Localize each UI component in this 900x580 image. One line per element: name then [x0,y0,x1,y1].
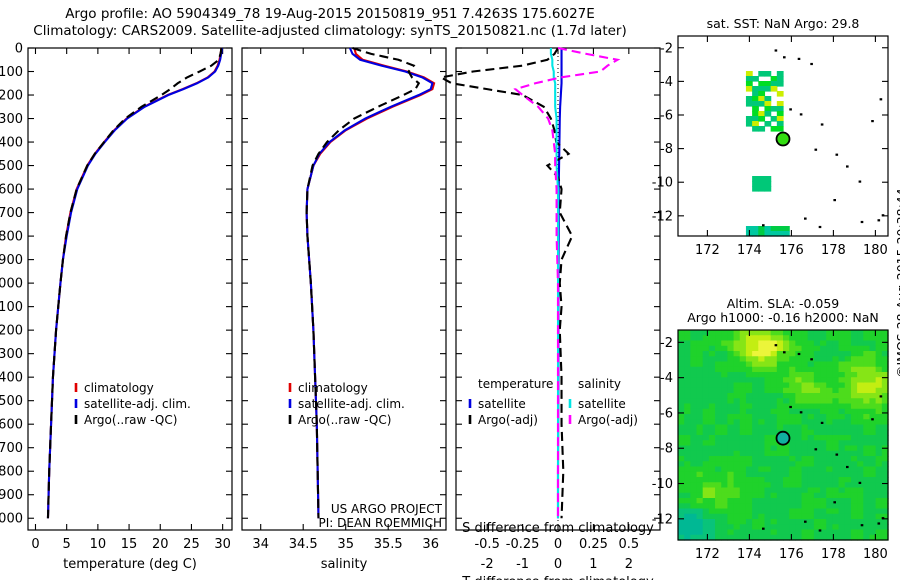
map-cell [820,330,827,336]
map-cell [851,393,858,399]
map-cell [771,377,778,383]
map-cell [727,425,734,431]
depth-tick-label: 400 [0,136,23,151]
map-cell [857,330,864,336]
map-cell [740,383,747,389]
map-cell [808,477,815,483]
x-tick-label: 25 [183,537,200,552]
map-cell [876,404,883,410]
map-cell [758,393,765,399]
map-cell [851,335,858,341]
map-cell [746,425,753,431]
map-cell [783,398,790,404]
map-cell [727,524,734,530]
map-cell [777,111,784,117]
map-cell [851,519,858,525]
map-cell [795,503,802,509]
coastline-mark [836,154,839,156]
map-cell [764,86,771,92]
map-cell [752,498,759,504]
argo-position-marker[interactable] [777,432,790,445]
map-cell [746,81,753,87]
coastline-mark [800,113,803,115]
map-cell [777,498,784,504]
s-diff-axis-label: S difference from climatology [462,521,654,536]
map-cell [746,96,753,102]
plot-title: Argo profile: AO 5904349_78 19-Aug-2015 … [0,6,660,40]
map-cell [684,435,691,441]
map-cell [740,335,747,341]
map-cell [814,498,821,504]
map-cell [715,461,722,467]
map-cell [697,493,704,499]
map-cell [845,451,852,457]
map-y-tick-label: -6 [660,406,673,421]
map-cell [876,530,883,536]
map-cell [684,362,691,368]
map-cell [851,377,858,383]
map-cell [734,461,741,467]
map-cell [752,372,759,378]
map-cell [697,346,704,352]
map-cell [783,383,790,389]
map-cell [851,430,858,436]
map-cell [876,388,883,394]
map-x-tick-label: 176 [779,243,804,258]
map-cell [857,446,864,452]
map-cell [808,435,815,441]
map-cell [845,488,852,494]
map-cell [764,330,771,336]
map-cell [795,377,802,383]
map-cell [851,498,858,504]
map-cell [703,446,710,452]
map-cell [869,435,876,441]
map-cell [783,388,790,394]
map-cell [845,519,852,525]
map-cell [814,425,821,431]
map-cell [764,341,771,347]
map-cell [783,467,790,473]
map-cell [752,176,759,182]
map-cell [851,503,858,509]
map-cell [690,446,697,452]
map-cell [826,519,833,525]
map-cell [832,398,839,404]
map-cell [808,524,815,530]
map-cell [876,435,883,441]
map-cell [709,398,716,404]
map-cell [764,176,771,182]
map-cell [746,451,753,457]
map-cell [703,393,710,399]
map-cell [709,393,716,399]
map-cell [857,493,864,499]
map-cell [734,440,741,446]
map-cell [715,430,722,436]
map-cell [697,409,704,415]
map-cell [851,388,858,394]
map-cell [764,346,771,352]
map-cell [863,493,870,499]
coastline-mark [861,524,864,526]
map-cell [752,524,759,530]
map-cell [734,451,741,457]
map-cell [771,76,778,82]
map-cell [832,524,839,530]
map-cell [863,467,870,473]
map-cell [721,456,728,462]
map-cell [758,372,765,378]
map-cell [832,425,839,431]
coastline-mark [762,528,765,530]
map-cell [721,514,728,520]
map-cell [715,335,722,341]
map-cell [752,430,759,436]
map-cell [839,409,846,415]
map-cell [845,346,852,352]
map-cell [795,524,802,530]
map-cell [814,472,821,478]
map-cell [876,351,883,357]
map-cell [802,398,809,404]
map-cell [863,341,870,347]
map-cell [697,530,704,536]
map-cell [734,514,741,520]
map-cell [783,524,790,530]
map-cell [703,356,710,362]
map-cell [826,367,833,373]
map-cell [764,488,771,494]
map-cell [684,451,691,457]
map-cell [703,362,710,368]
map-cell [771,461,778,467]
map-cell [746,383,753,389]
map-cell [690,509,697,515]
depth-tick-label: 700 [0,206,23,221]
legend-label: satellite-adj. clim. [298,397,405,411]
map-cell [814,467,821,473]
sst-map: sat. SST: NaN Argo: 29.8172174176178180-… [660,10,900,290]
map-cell [715,467,722,473]
map-cell [808,414,815,420]
map-cell [845,503,852,509]
map-cell [758,425,765,431]
map-cell [690,356,697,362]
argo-position-marker[interactable] [777,133,790,146]
map-cell [771,226,778,232]
map-cell [851,330,858,336]
map-cell [826,435,833,441]
profile-panels: 0100200300400500600700800900100011001200… [0,40,660,580]
map-cell [802,451,809,457]
coastline-mark [789,406,792,408]
map-cell [684,446,691,452]
map-cell [740,425,747,431]
map-cell [863,356,870,362]
map-cell [752,503,759,509]
map-cell [802,477,809,483]
map-cell [764,435,771,441]
map-cell [789,351,796,357]
map-cell [752,519,759,525]
map-cell [690,404,697,410]
map-cell [789,461,796,467]
map-cell [783,226,790,232]
map-cell [851,488,858,494]
map-cell [678,524,685,530]
map-cell [839,425,846,431]
map-cell [758,346,765,352]
coastline-mark [810,358,813,360]
map-cell [832,404,839,410]
map-cell [721,477,728,483]
coastline-mark [819,529,822,531]
map-cell [727,440,734,446]
panel-frame [28,48,232,530]
map-cell [777,71,784,77]
map-cell [851,372,858,378]
map-cell [876,356,883,362]
map-cell [802,377,809,383]
map-cell [764,404,771,410]
map-cell [684,414,691,420]
legend-label: satellite [578,397,626,411]
map-x-tick-label: 178 [821,547,846,562]
map-cell [764,493,771,499]
coastline-mark [833,199,836,201]
map-cell [832,430,839,436]
map-cell [771,356,778,362]
map-cell [697,330,704,336]
map-cell [678,414,685,420]
map-cell [802,409,809,415]
map-cell [808,467,815,473]
map-x-tick-label: 174 [737,243,762,258]
map-cell [678,493,685,499]
map-cell [869,477,876,483]
map-cell [715,498,722,504]
map-cell [826,351,833,357]
map-cell [795,467,802,473]
map-cell [876,341,883,347]
map-cell [752,493,759,499]
map-cell [845,419,852,425]
map-cell [869,362,876,368]
map-cell [857,451,864,457]
map-cell [826,409,833,415]
series-climatology [307,48,435,518]
map-cell [740,461,747,467]
map-cell [752,393,759,399]
map-cell [734,409,741,415]
map-cell [789,488,796,494]
map-cell [851,514,858,520]
map-cell [826,414,833,420]
map-cell [721,398,728,404]
map-cell [808,530,815,536]
map-cell [734,472,741,478]
map-cell [721,440,728,446]
map-cell [839,446,846,452]
sla-map: Altim. SLA: -0.059Argo h1000: -0.16 h200… [660,290,900,580]
map-cell [709,388,716,394]
map-cell [678,409,685,415]
map-cell [820,446,827,452]
map-cell [727,493,734,499]
map-cell [876,409,883,415]
map-cell [764,383,771,389]
map-cell [832,477,839,483]
map-cell [715,530,722,536]
x-tick-label: 30 [214,537,231,552]
map-cell [839,367,846,373]
map-cell [845,477,852,483]
depth-tick-label: 1200 [0,324,23,339]
map-cell [697,383,704,389]
map-cell [839,351,846,357]
map-cell [845,330,852,336]
coastline-mark [798,353,801,355]
map-cell [845,393,852,399]
map-cell [808,388,815,394]
map-cell [808,493,815,499]
map-cell [845,530,852,536]
map-cell [764,440,771,446]
map-cell [734,498,741,504]
map-cell [795,451,802,457]
map-cell [802,461,809,467]
map-cell [727,446,734,452]
map-cell [684,346,691,352]
map-cell [734,509,741,515]
map-cell [777,519,784,525]
map-cell [703,461,710,467]
map-cell [734,482,741,488]
map-cell [851,530,858,536]
depth-tick-label: 800 [0,230,23,245]
map-cell [734,404,741,410]
map-cell [740,503,747,509]
map-cell [845,430,852,436]
legend-label: satellite [478,397,526,411]
map-cell [690,388,697,394]
map-cell [857,351,864,357]
map-cell [863,446,870,452]
coastline-mark [859,181,862,183]
map-cell [857,509,864,515]
map-cell [709,425,716,431]
panel-salinity: 3434.53535.536salinityclimatologysatelli… [242,48,446,572]
map-cell [690,383,697,389]
map-cell [783,414,790,420]
map-cell [857,414,864,420]
map-cell [863,404,870,410]
map-cell [721,472,728,478]
map-cell [808,377,815,383]
map-cell [795,356,802,362]
map-cell [709,362,716,368]
map-cell [690,367,697,373]
map-cell [820,451,827,457]
map-cell [684,330,691,336]
coastline-mark [800,411,803,413]
map-cell [820,377,827,383]
map-cell [678,509,685,515]
map-cell [758,81,765,87]
map-cell [752,472,759,478]
map-cell [703,451,710,457]
map-cell [777,482,784,488]
map-cell [783,509,790,515]
map-cell [795,446,802,452]
map-cell [795,335,802,341]
map-cell [703,467,710,473]
map-cell [814,335,821,341]
map-cell [697,519,704,525]
map-cell [746,362,753,368]
map-cell [820,409,827,415]
map-cell [758,96,765,102]
map-cell [845,472,852,478]
map-y-tick-label: -10 [652,477,673,492]
map-cell [863,519,870,525]
map-cell [746,519,753,525]
map-cell [857,503,864,509]
map-cell [839,388,846,394]
map-cell [771,419,778,425]
map-cell [777,419,784,425]
map-cell [697,388,704,394]
map-cell [721,356,728,362]
map-cell [789,503,796,509]
map-cell [709,503,716,509]
map-cell [752,186,759,192]
coastline-mark [821,422,824,424]
map-cell [839,430,846,436]
map-cell [746,509,753,515]
map-cell [845,514,852,520]
map-cell [814,341,821,347]
map-cell [678,383,685,389]
project-line1: US ARGO PROJECT [331,502,443,516]
map-cell [795,419,802,425]
map-cell [777,101,784,107]
depth-tick-label: 1500 [0,394,23,409]
map-cell [709,372,716,378]
map-cell [684,440,691,446]
map-cell [777,414,784,420]
map-cell [746,356,753,362]
map-cell [752,409,759,415]
map-cell [820,524,827,530]
map-cell [869,377,876,383]
map-cell [764,530,771,536]
map-cell [727,351,734,357]
map-cell [771,126,778,132]
map-cell [678,335,685,341]
map-cell [758,503,765,509]
map-cell [814,456,821,462]
map-cell [678,519,685,525]
map-x-tick-label: 174 [737,547,762,562]
map-cell [863,509,870,515]
map-cell [832,346,839,352]
map-cell [876,472,883,478]
map-cell [839,377,846,383]
map-cell [869,446,876,452]
map-cell [783,451,790,457]
